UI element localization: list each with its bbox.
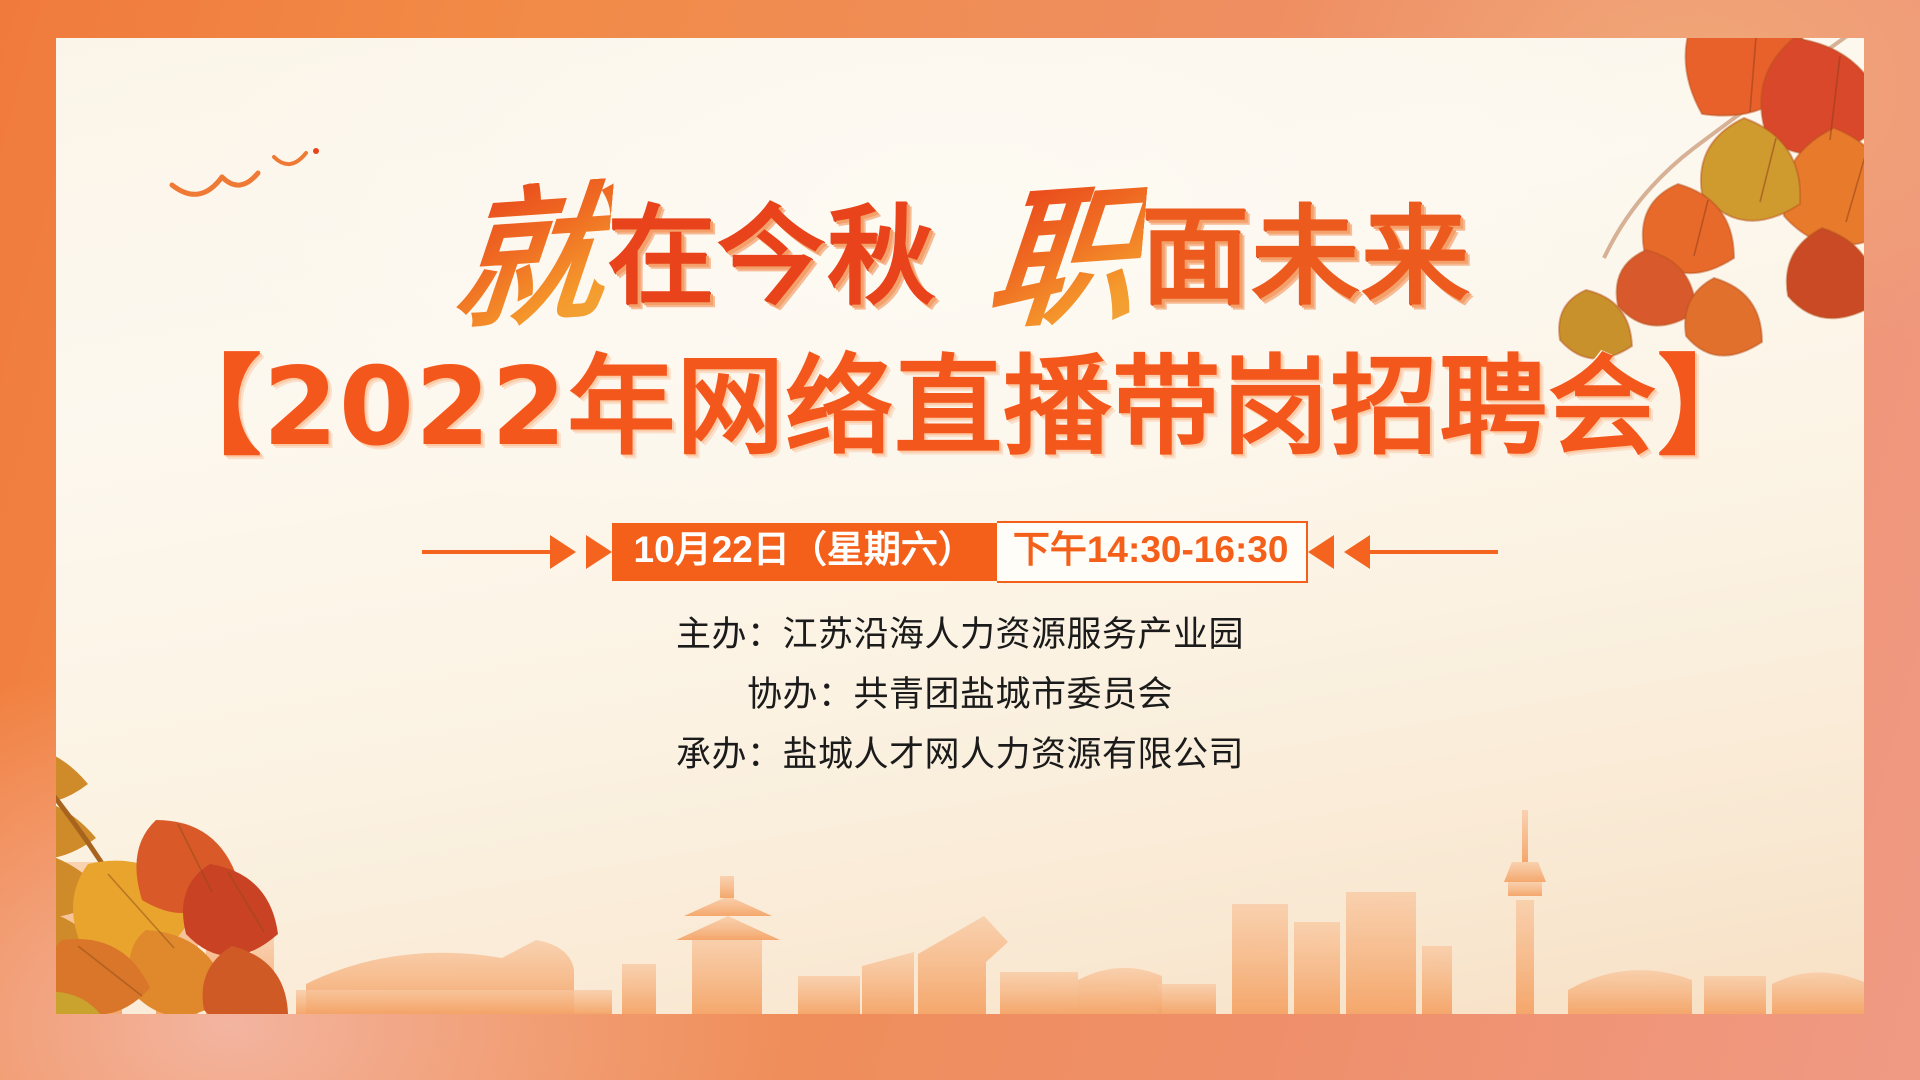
organizer-list: 主办： 江苏沿海人力资源服务产业园 协办： 共青团盐城市委员会 承办： 盐城人才… [56,606,1864,777]
arrow-right-icon [586,535,612,569]
arrow-right-icon [550,535,576,569]
headline-word-mianweilai: 面未来 [1141,204,1471,312]
organizer-label: 承办： [676,726,783,777]
organizer-label: 主办： [676,606,783,657]
organizer-value: 江苏沿海人力资源服务产业园 [783,606,1245,657]
event-date-chip: 10月22日（星期六） [612,523,997,581]
headline-char-zhi: 职 [976,178,1149,339]
poster-inner-panel: 就 在今秋 职 面未来 【2022年网络直播带岗招聘会】 10月22日（星期六）… [56,38,1864,1014]
event-time-chip: 下午14:30-16:30 [997,521,1309,583]
headline-char-jiu: 就 [442,178,615,339]
poster-root: 就 在今秋 职 面未来 【2022年网络直播带岗招聘会】 10月22日（星期六）… [0,0,1920,1080]
headline-word-zaijinqiu: 在今秋 [607,204,937,312]
date-time-strip: 10月22日（星期六） 下午14:30-16:30 [56,516,1864,588]
strip-rule-right [1370,550,1498,554]
strip-rule-left [422,550,550,554]
organizer-row: 协办： 共青团盐城市委员会 [747,666,1173,717]
organizer-value: 共青团盐城市委员会 [854,666,1174,717]
organizer-row: 主办： 江苏沿海人力资源服务产业园 [676,606,1244,657]
event-title: 【2022年网络直播带岗招聘会】 [154,354,1767,462]
headline-row-1: 就 在今秋 职 面未来 [56,168,1864,348]
arrow-left-icon [1308,535,1334,569]
city-skyline-icon [56,804,1864,1014]
organizer-value: 盐城人才网人力资源有限公司 [783,726,1245,777]
arrow-left-icon [1344,535,1370,569]
organizer-label: 协办： [747,666,854,717]
headline-row-2: 【2022年网络直播带岗招聘会】 [56,338,1864,478]
organizer-row: 承办： 盐城人才网人力资源有限公司 [676,726,1244,777]
